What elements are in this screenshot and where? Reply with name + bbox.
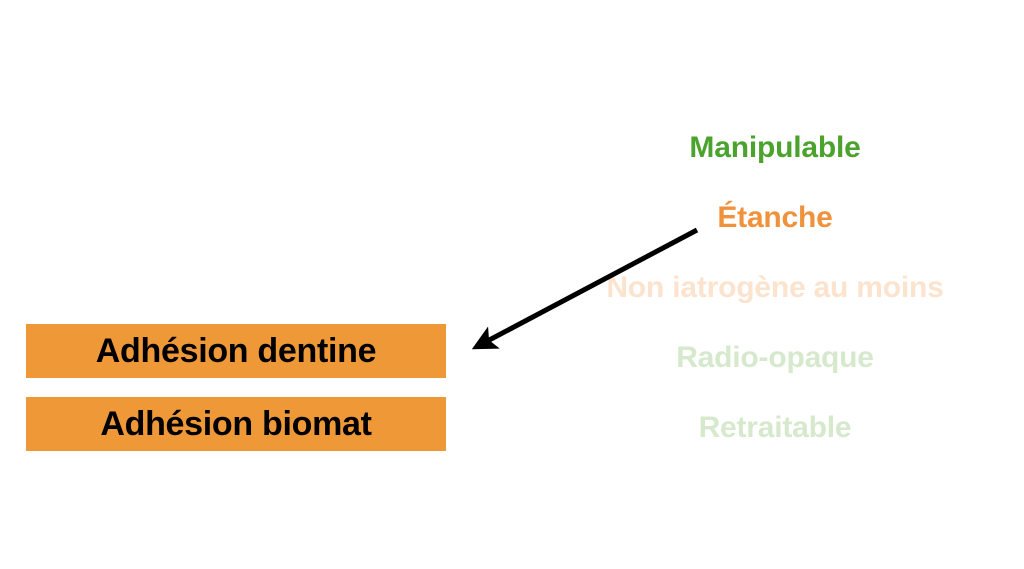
adhesion-biomat-label: Adhésion biomat <box>100 407 371 441</box>
requirement-manipulable: Manipulable <box>530 133 1020 163</box>
adhesion-dentine-box[interactable]: Adhésion dentine <box>26 324 446 378</box>
slide-canvas: Adhésion dentine Adhésion biomat Manipul… <box>0 0 1024 569</box>
requirement-etanche: Étanche <box>530 203 1020 233</box>
requirement-non-iatrogene: Non iatrogène au moins <box>530 273 1020 303</box>
requirement-radio-opaque: Radio-opaque <box>530 343 1020 373</box>
requirement-retraitable: Retraitable <box>530 413 1020 443</box>
adhesion-dentine-label: Adhésion dentine <box>96 334 376 368</box>
adhesion-label-group: Adhésion dentine Adhésion biomat <box>26 324 446 451</box>
requirements-list: Manipulable Étanche Non iatrogène au moi… <box>530 133 1020 443</box>
adhesion-biomat-box[interactable]: Adhésion biomat <box>26 397 446 451</box>
